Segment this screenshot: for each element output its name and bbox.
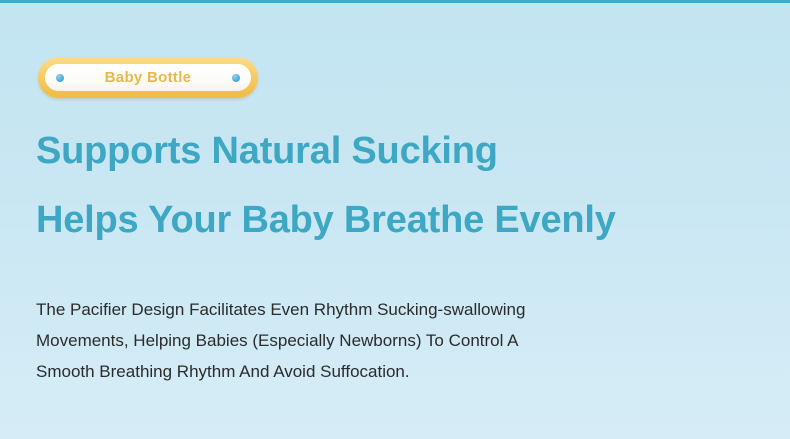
body-line-1: The Pacifier Design Facilitates Even Rhy… xyxy=(36,294,696,325)
body-line-3: Smooth Breathing Rhythm And Avoid Suffoc… xyxy=(36,356,696,387)
headline-line-2: Helps Your Baby Breathe Evenly xyxy=(36,197,776,243)
badge-dot-right-icon xyxy=(232,74,240,82)
category-badge: Baby Bottle xyxy=(38,57,258,98)
body-copy: The Pacifier Design Facilitates Even Rhy… xyxy=(36,294,696,387)
headline-line-1: Supports Natural Sucking xyxy=(36,128,776,174)
body-line-2: Movements, Helping Babies (Especially Ne… xyxy=(36,325,696,356)
headline: Supports Natural Sucking Helps Your Baby… xyxy=(36,128,776,243)
top-accent-rule xyxy=(0,0,790,3)
product-feature-banner: Baby Bottle Supports Natural Sucking Hel… xyxy=(0,0,790,439)
badge-dot-left-icon xyxy=(56,74,64,82)
category-badge-label: Baby Bottle xyxy=(105,69,192,86)
category-badge-inner: Baby Bottle xyxy=(45,64,251,91)
